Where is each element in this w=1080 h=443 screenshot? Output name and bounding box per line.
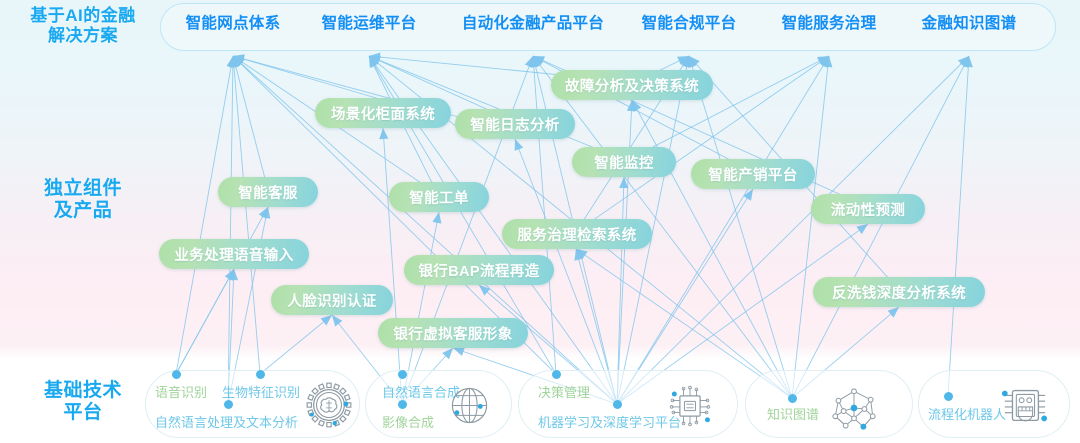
component-pill-5[interactable]: 智能产销平台 bbox=[691, 159, 815, 189]
ai-finance-architecture-diagram: 基于AI的金融 解决方案 独立组件 及产品 基础技术 平台 智能网点体系智能运维… bbox=[0, 0, 1080, 443]
component-pill-13[interactable]: 反洗钱深度分析系统 bbox=[813, 277, 985, 307]
component-pill-2[interactable]: 场景化柜面系统 bbox=[315, 98, 451, 128]
platform-tech-label: 知识图谱 bbox=[767, 404, 819, 423]
solution-item-2[interactable]: 智能运维平台 bbox=[308, 0, 430, 48]
connector-dot bbox=[552, 370, 561, 379]
platform-tech-label: 决策管理 bbox=[538, 382, 590, 401]
globe-icon bbox=[447, 383, 492, 433]
solution-item-3[interactable]: 自动化金融产品平台 bbox=[448, 0, 618, 48]
chip-icon bbox=[667, 383, 713, 434]
connector-dot bbox=[613, 400, 622, 409]
connector-dot bbox=[224, 400, 233, 409]
component-pill-12[interactable]: 人脸识别认证 bbox=[271, 285, 393, 315]
platform-tech-label: 流程化机器人 bbox=[928, 404, 1006, 423]
connector-dot bbox=[256, 370, 265, 379]
connector-dot bbox=[398, 400, 407, 409]
connector-dot bbox=[944, 392, 953, 401]
network-graph-icon bbox=[828, 383, 880, 435]
row-label-components: 独立组件 及产品 bbox=[8, 178, 158, 223]
component-pill-6[interactable]: 智能客服 bbox=[218, 177, 318, 207]
solution-item-6[interactable]: 金融知识图谱 bbox=[906, 0, 1032, 48]
component-pill-7[interactable]: 智能工单 bbox=[389, 182, 489, 212]
gear-brain-icon bbox=[305, 381, 353, 434]
platform-tech-label: 机器学习及深度学习平台 bbox=[538, 412, 681, 431]
connector-dot bbox=[172, 370, 181, 379]
globe-icon bbox=[447, 383, 492, 428]
platform-tech-label: 生物特征识别 bbox=[222, 382, 300, 401]
robot-icon bbox=[1000, 381, 1048, 429]
platform-tech-label: 影像合成 bbox=[382, 412, 434, 431]
robot-icon bbox=[1000, 381, 1048, 434]
component-pill-9[interactable]: 服务治理检索系统 bbox=[502, 219, 652, 249]
component-pill-14[interactable]: 银行虚拟客服形象 bbox=[378, 318, 528, 348]
component-pill-4[interactable]: 智能监控 bbox=[572, 147, 676, 177]
row-label-solutions: 基于AI的金融 解决方案 bbox=[8, 6, 158, 46]
component-pill-1[interactable]: 故障分析及决策系统 bbox=[551, 70, 713, 100]
platform-tech-label: 语音识别 bbox=[155, 382, 207, 401]
gear-brain-icon bbox=[305, 381, 353, 429]
chip-icon bbox=[667, 383, 713, 429]
connector-dot bbox=[398, 370, 407, 379]
component-pill-8[interactable]: 流动性预测 bbox=[811, 194, 925, 224]
connector-dot bbox=[788, 394, 797, 403]
row-label-platform: 基础技术 平台 bbox=[8, 380, 158, 425]
component-pill-10[interactable]: 业务处理语音输入 bbox=[159, 239, 309, 269]
solution-item-1[interactable]: 智能网点体系 bbox=[168, 0, 298, 48]
solution-item-4[interactable]: 智能合规平台 bbox=[628, 0, 750, 48]
component-pill-3[interactable]: 智能日志分析 bbox=[455, 109, 575, 139]
platform-tech-label: 自然语言处理及文本分析 bbox=[155, 412, 298, 431]
solution-item-5[interactable]: 智能服务治理 bbox=[768, 0, 890, 48]
network-graph-icon bbox=[828, 383, 880, 440]
component-pill-11[interactable]: 银行BAP流程再造 bbox=[404, 255, 554, 285]
